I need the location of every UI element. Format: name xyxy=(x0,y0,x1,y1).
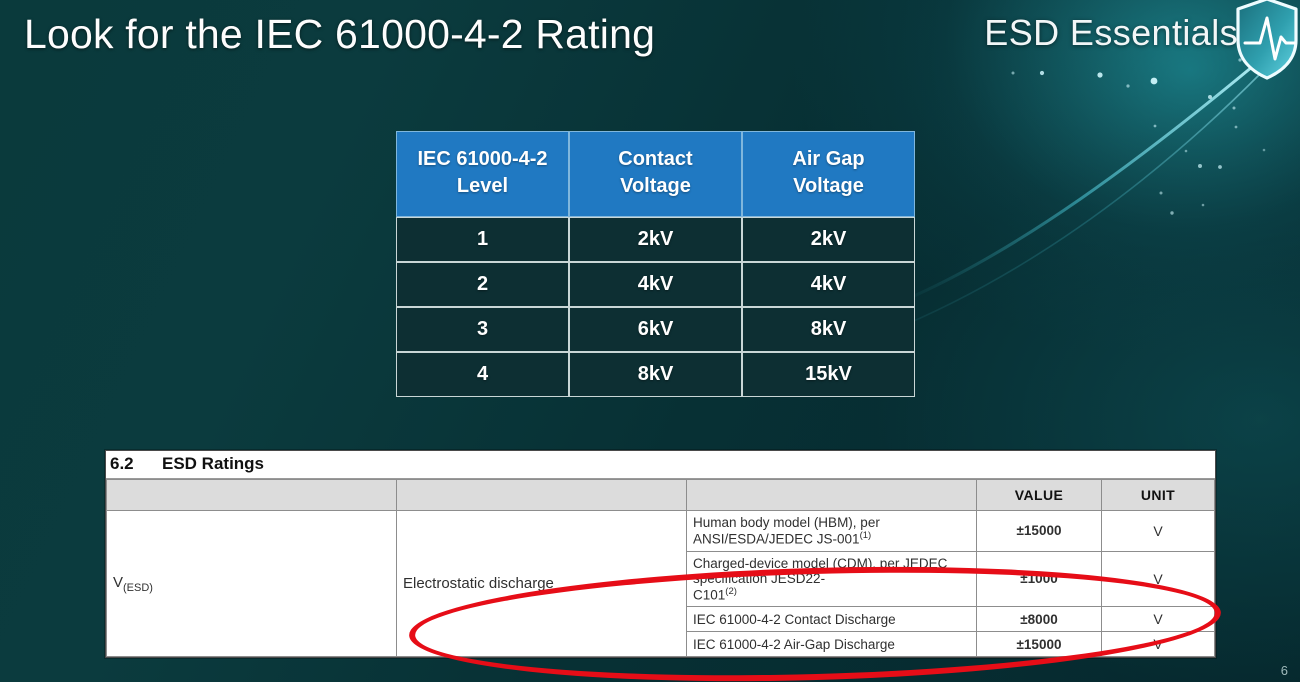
description-cell: Electrostatic discharge xyxy=(397,511,687,657)
section-number: 6.2 xyxy=(110,454,162,474)
level-cell: 2 xyxy=(396,262,569,307)
contact-voltage-cell: 2kV xyxy=(569,217,742,262)
level-cell: 1 xyxy=(396,217,569,262)
unit-cell: V xyxy=(1102,632,1215,657)
header-line: Air Gap xyxy=(792,148,864,170)
contact-voltage-cell: 8kV xyxy=(569,352,742,397)
value-header: VALUE xyxy=(977,480,1102,511)
unit-cell: V xyxy=(1102,551,1215,607)
symbol-subscript: (ESD) xyxy=(123,582,153,594)
shield-heartbeat-icon xyxy=(1234,0,1300,82)
air-gap-voltage-cell: 2kV xyxy=(742,217,915,262)
header-line: IEC 61000-4-2 xyxy=(417,148,547,170)
value-cell: ±15000 xyxy=(977,511,1102,552)
ratings-header-row: VALUE UNIT xyxy=(107,480,1215,511)
unit-cell: V xyxy=(1102,607,1215,632)
datasheet-excerpt: 6.2ESD Ratings VALUE UNIT V(ESD) Electro… xyxy=(105,450,1216,658)
header-line: Contact xyxy=(618,148,692,170)
datasheet-section-header: 6.2ESD Ratings xyxy=(106,451,1215,479)
level-cell: 4 xyxy=(396,352,569,397)
blank-header-symbol xyxy=(107,480,397,511)
iec-level-table: IEC 61000-4-2 Level Contact Voltage Air … xyxy=(396,131,915,397)
brand-label: ESD Essentials xyxy=(984,12,1238,54)
slide-title: Look for the IEC 61000-4-2 Rating xyxy=(24,12,655,57)
condition-text: Human body model (HBM), per ANSI/ESDA/JE… xyxy=(693,515,880,547)
header-line: Level xyxy=(457,175,508,197)
table-row: V(ESD) Electrostatic discharge Human bod… xyxy=(107,511,1215,552)
condition-cell: Human body model (HBM), per ANSI/ESDA/JE… xyxy=(687,511,977,552)
contact-voltage-cell: 6kV xyxy=(569,307,742,352)
header-line: Voltage xyxy=(793,175,864,197)
esd-ratings-table: VALUE UNIT V(ESD) Electrostatic discharg… xyxy=(106,479,1215,657)
section-title: ESD Ratings xyxy=(162,454,264,473)
table-row: 4 8kV 15kV xyxy=(396,352,915,397)
value-cell: ±15000 xyxy=(977,632,1102,657)
symbol-text: V xyxy=(113,574,123,591)
level-table-header-row: IEC 61000-4-2 Level Contact Voltage Air … xyxy=(396,131,915,217)
level-cell: 3 xyxy=(396,307,569,352)
footnote-marker: (2) xyxy=(725,586,737,597)
value-cell: ±8000 xyxy=(977,607,1102,632)
table-row: 3 6kV 8kV xyxy=(396,307,915,352)
air-gap-voltage-cell: 8kV xyxy=(742,307,915,352)
air-gap-voltage-cell: 4kV xyxy=(742,262,915,307)
condition-cell: IEC 61000-4-2 Contact Discharge xyxy=(687,607,977,632)
table-row: 1 2kV 2kV xyxy=(396,217,915,262)
level-table-header-cell: IEC 61000-4-2 Level xyxy=(396,131,569,217)
table-row: 2 4kV 4kV xyxy=(396,262,915,307)
air-gap-voltage-cell: 15kV xyxy=(742,352,915,397)
unit-header: UNIT xyxy=(1102,480,1215,511)
condition-cell: IEC 61000-4-2 Air-Gap Discharge xyxy=(687,632,977,657)
condition-cell: Charged-device model (CDM), per JEDEC sp… xyxy=(687,551,977,607)
contact-voltage-cell: 4kV xyxy=(569,262,742,307)
level-table-header-cell: Contact Voltage xyxy=(569,131,742,217)
footnote-marker: (1) xyxy=(860,530,872,541)
page-number: 6 xyxy=(1281,663,1288,678)
value-cell: ±1000 xyxy=(977,551,1102,607)
slide-canvas: Look for the IEC 61000-4-2 Rating ESD Es… xyxy=(0,0,1300,682)
blank-header-condition xyxy=(687,480,977,511)
condition-text: Charged-device model (CDM), per JEDEC sp… xyxy=(693,556,947,586)
blank-header-description xyxy=(397,480,687,511)
unit-cell: V xyxy=(1102,511,1215,552)
header-line: Voltage xyxy=(620,175,691,197)
level-table-header-cell: Air Gap Voltage xyxy=(742,131,915,217)
symbol-cell: V(ESD) xyxy=(107,511,397,657)
condition-text-line2: C101 xyxy=(693,587,725,602)
